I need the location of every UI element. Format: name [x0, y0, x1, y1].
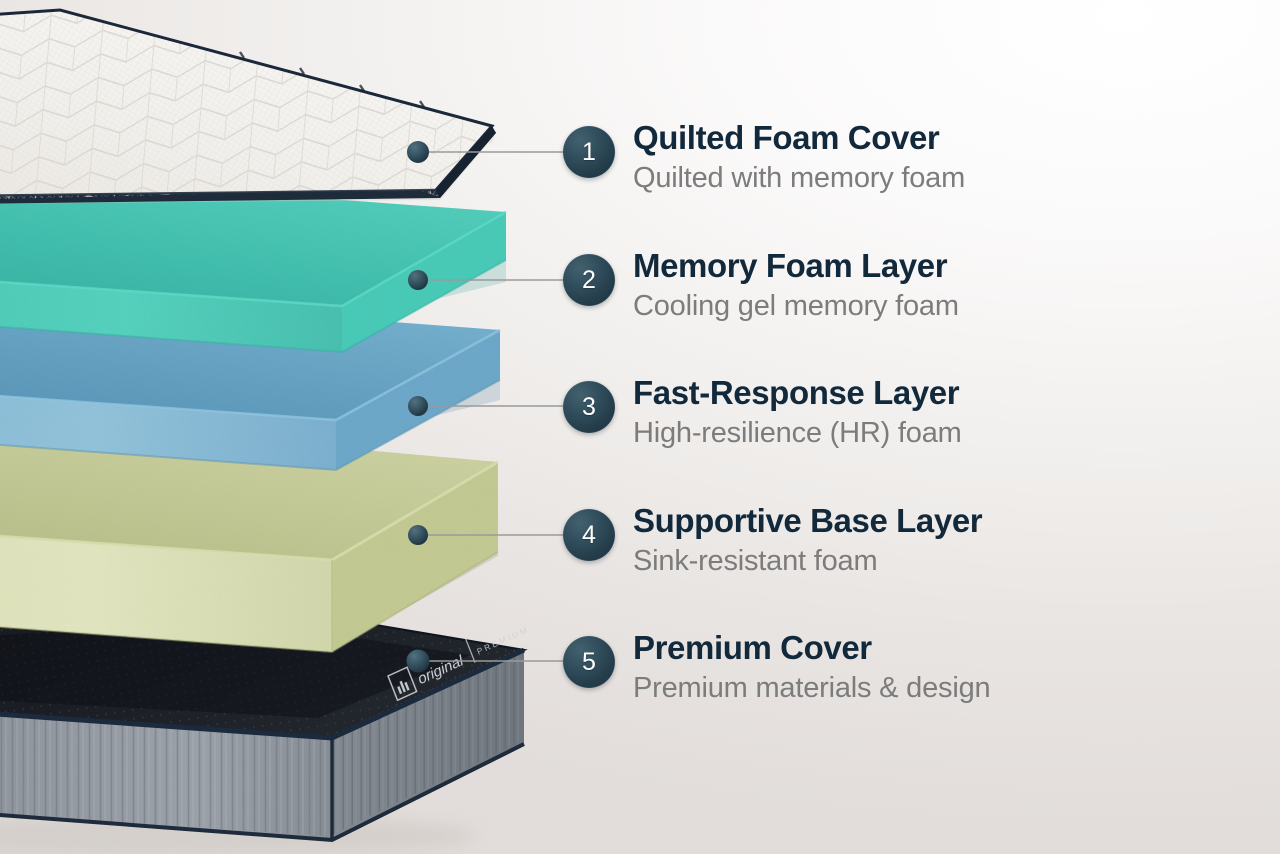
layer-number-badge-5: 5: [563, 636, 615, 688]
layer-number-5: 5: [582, 650, 596, 675]
callout-3[interactable]: 3 Fast-Response Layer High-resilience (H…: [563, 381, 962, 450]
mattress-layer-diagram: original PREMIUM: [0, 0, 1280, 854]
layer-number-3: 3: [582, 395, 596, 420]
callout-text-3: Fast-Response Layer High-resilience (HR)…: [633, 375, 962, 450]
layer-number-badge-3: 3: [563, 381, 615, 433]
layer-number-1: 1: [582, 140, 596, 165]
callout-text-1: Quilted Foam Cover Quilted with memory f…: [633, 120, 965, 195]
callout-text-2: Memory Foam Layer Cooling gel memory foa…: [633, 248, 959, 323]
layer-subtitle-2: Cooling gel memory foam: [633, 289, 959, 323]
layer-number-badge-4: 4: [563, 509, 615, 561]
layer-number-4: 4: [582, 523, 596, 548]
callout-1[interactable]: 1 Quilted Foam Cover Quilted with memory…: [563, 126, 965, 195]
callout-text-4: Supportive Base Layer Sink-resistant foa…: [633, 503, 982, 578]
callout-5[interactable]: 5 Premium Cover Premium materials & desi…: [563, 636, 990, 705]
layer-subtitle-5: Premium materials & design: [633, 671, 990, 705]
callout-2[interactable]: 2 Memory Foam Layer Cooling gel memory f…: [563, 254, 959, 323]
layer-number-badge-1: 1: [563, 126, 615, 178]
layer-title-5: Premium Cover: [633, 630, 990, 667]
layer-number-badge-2: 2: [563, 254, 615, 306]
layer-title-4: Supportive Base Layer: [633, 503, 982, 540]
layer-title-1: Quilted Foam Cover: [633, 120, 965, 157]
layer-subtitle-4: Sink-resistant foam: [633, 544, 982, 578]
layer-title-3: Fast-Response Layer: [633, 375, 962, 412]
layer-subtitle-1: Quilted with memory foam: [633, 161, 965, 195]
layer-title-2: Memory Foam Layer: [633, 248, 959, 285]
layer-subtitle-3: High-resilience (HR) foam: [633, 416, 962, 450]
callout-4[interactable]: 4 Supportive Base Layer Sink-resistant f…: [563, 509, 982, 578]
callout-text-5: Premium Cover Premium materials & design: [633, 630, 990, 705]
layer-number-2: 2: [582, 268, 596, 293]
